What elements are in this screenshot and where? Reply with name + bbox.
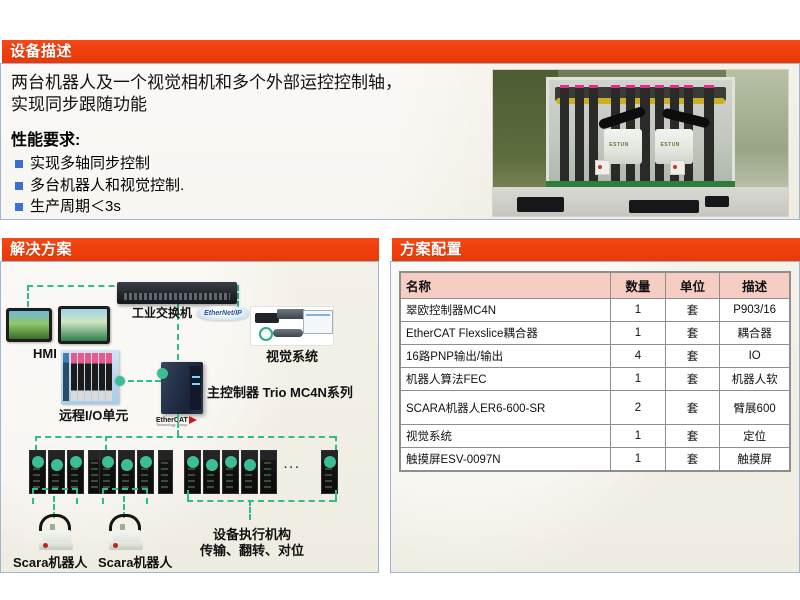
controller-front-panel xyxy=(190,366,201,410)
photo-red-dot xyxy=(673,165,677,169)
io-module xyxy=(71,353,77,401)
remote-io-unit xyxy=(61,350,119,404)
cell-unit: 套 xyxy=(665,391,720,425)
link-bus-drop-right xyxy=(335,436,337,450)
photo-robot-left: ESTUN xyxy=(604,129,642,165)
photo-fixture xyxy=(705,196,729,208)
link-actuator-left-riser xyxy=(187,490,189,502)
drive-vent xyxy=(91,462,98,491)
hmi-screen xyxy=(61,309,107,341)
drive-node xyxy=(244,459,256,471)
photo-gripper xyxy=(560,85,569,187)
cell-desc: IO xyxy=(720,345,790,368)
drive-top xyxy=(159,451,172,460)
bullet-square-icon xyxy=(15,160,23,168)
photo-fixture xyxy=(629,200,700,213)
link-to-vision xyxy=(237,285,239,307)
drive-node xyxy=(206,459,218,471)
cell-qty: 2 xyxy=(611,391,666,425)
cell-name: 机器人算法FEC xyxy=(400,368,611,391)
requirement-text: 生产周期＜3s xyxy=(30,196,121,218)
section-body-device-description: 两台机器人及一个视觉相机和多个外部运控控制轴，实现同步跟随功能 性能要求: 实现… xyxy=(0,63,800,220)
controller-led xyxy=(192,383,200,385)
scara-cable-arc xyxy=(39,514,71,531)
hmi-panel-right xyxy=(58,306,110,344)
section-header-configuration: 方案配置 xyxy=(390,238,800,261)
bullet-square-icon xyxy=(15,182,23,190)
section-header-device-description: 设备描述 xyxy=(0,40,800,63)
io-module xyxy=(78,353,84,401)
photo-robot-brand-label: ESTUN xyxy=(609,142,628,148)
hmi-panel-left xyxy=(6,308,52,342)
photo-gripper xyxy=(704,85,713,187)
section-title-configuration: 方案配置 xyxy=(392,242,462,257)
scara-indicator-dot xyxy=(113,543,118,548)
cell-name: 翠欧控制器MC4N xyxy=(400,299,611,322)
cell-name: SCARA机器人ER6-600-SR xyxy=(400,391,611,425)
column-header-qty: 数量 xyxy=(611,272,666,299)
photo-robot-arm xyxy=(598,106,646,130)
switch-ports xyxy=(124,293,230,301)
cell-desc: 定位 xyxy=(720,425,790,448)
photo-workpiece-base xyxy=(670,160,685,175)
label-scara-right: Scara机器人 xyxy=(98,552,172,571)
table-row: SCARA机器人ER6-600-SR 2 套 臂展600 xyxy=(400,391,790,425)
table-row: 触摸屏ESV-0097N 1 套 触摸屏 xyxy=(400,448,790,472)
main-controller xyxy=(161,362,203,414)
drive-node xyxy=(51,459,63,471)
photo-robot-brand-label: ESTUN xyxy=(660,142,679,148)
label-hmi: HMI xyxy=(33,346,57,361)
label-actuator-detail: 传输、翻转、对位 xyxy=(200,540,304,559)
bullet-square-icon xyxy=(15,203,23,211)
vision-camera-icon xyxy=(255,313,279,323)
cell-unit: 套 xyxy=(665,299,720,322)
photo-fixture xyxy=(517,197,564,212)
link-actuator-drop xyxy=(249,500,251,520)
drive-node xyxy=(121,459,133,471)
description-paragraph: 两台机器人及一个视觉相机和多个外部运控控制轴，实现同步跟随功能 xyxy=(11,72,411,117)
column-header-name: 名称 xyxy=(400,272,611,299)
cell-desc: 触摸屏 xyxy=(720,448,790,472)
cell-unit: 套 xyxy=(665,448,720,472)
section-body-solution: 工业交换机 EtherNet/IP HMI xyxy=(0,261,379,573)
scara-robot-right xyxy=(103,514,151,556)
photo-workpiece-base xyxy=(595,160,610,175)
drive-vent xyxy=(161,462,168,491)
cell-qty: 1 xyxy=(611,322,666,345)
photo-robot-right: ESTUN xyxy=(655,129,693,165)
cell-unit: 套 xyxy=(665,425,720,448)
io-module xyxy=(63,353,69,401)
label-industrial-switch: 工业交换机 xyxy=(132,304,192,321)
section-solution: 解决方案 工业交换机 EtherNet/IP xyxy=(0,238,379,573)
io-module xyxy=(85,353,91,401)
servo-drive xyxy=(203,450,220,494)
link-drives-to-scara-left xyxy=(32,488,78,504)
ethernet-ip-logo-icon: EtherNet/IP xyxy=(197,306,249,320)
table-row: 翠欧控制器MC4N 1 套 P903/16 xyxy=(400,299,790,322)
io-module xyxy=(92,353,98,401)
cell-qty: 1 xyxy=(611,425,666,448)
cell-name: 触摸屏ESV-0097N xyxy=(400,448,611,472)
cell-name: 视觉系统 xyxy=(400,425,611,448)
drive-node xyxy=(187,456,199,468)
vision-system-group xyxy=(250,306,334,346)
vision-lens-array-icon xyxy=(273,329,303,337)
link-actuator-right-riser xyxy=(335,490,337,502)
section-title-solution: 解决方案 xyxy=(2,242,72,257)
drive-node xyxy=(225,456,237,468)
workstation-photo: ESTUN ESTUN xyxy=(492,69,789,217)
cell-desc: 机器人软 xyxy=(720,368,790,391)
cell-qty: 1 xyxy=(611,368,666,391)
link-to-hmi xyxy=(27,285,29,307)
label-scara-left: Scara机器人 xyxy=(13,552,87,571)
label-main-controller: 主控制器 Trio MC4N系列 xyxy=(207,382,353,401)
cell-unit: 套 xyxy=(665,322,720,345)
link-controller-to-bus xyxy=(177,414,179,436)
drive-node xyxy=(140,456,152,468)
link-bus-drop-left xyxy=(35,436,37,450)
slide-root: 设备描述 两台机器人及一个视觉相机和多个外部运控控制轴，实现同步跟随功能 性能要… xyxy=(0,0,800,600)
requirement-text: 多台机器人和视觉控制. xyxy=(30,175,184,197)
link-io-to-controller xyxy=(119,380,161,382)
industrial-switch xyxy=(117,282,237,304)
photo-red-dot xyxy=(598,165,602,169)
scara-cable-arc xyxy=(109,514,141,531)
column-header-desc: 描述 xyxy=(720,272,790,299)
vision-light-ring-icon xyxy=(259,327,273,341)
drive-vent xyxy=(264,462,272,491)
configuration-table: 名称 数量 单位 描述 翠欧控制器MC4N 1 套 P903/16 EtherC… xyxy=(399,271,791,472)
link-actuator-bus xyxy=(187,500,335,502)
section-body-configuration: 名称 数量 单位 描述 翠欧控制器MC4N 1 套 P903/16 EtherC… xyxy=(390,261,800,573)
section-device-description: 设备描述 两台机器人及一个视觉相机和多个外部运控控制轴，实现同步跟随功能 性能要… xyxy=(0,40,800,220)
hmi-screen xyxy=(9,311,49,339)
cell-name: EtherCAT Flexslice耦合器 xyxy=(400,322,611,345)
label-drives-ellipsis: ··· xyxy=(284,462,301,474)
link-ethercat-bus xyxy=(35,436,335,438)
drive-top xyxy=(261,451,276,460)
cell-name: 16路PNP输出/输出 xyxy=(400,345,611,368)
vision-controller-icon xyxy=(277,309,305,319)
table-row: EtherCAT Flexslice耦合器 1 套 耦合器 xyxy=(400,322,790,345)
controller-led xyxy=(192,376,200,378)
cell-qty: 1 xyxy=(611,299,666,322)
cell-qty: 4 xyxy=(611,345,666,368)
drive-node xyxy=(70,456,82,468)
ethercat-arrow-icon xyxy=(189,416,197,424)
servo-drive xyxy=(260,450,277,494)
table-header-row: 名称 数量 单位 描述 xyxy=(400,272,790,299)
section-title-device-description: 设备描述 xyxy=(2,44,72,59)
cell-desc: P903/16 xyxy=(720,299,790,322)
cell-desc: 臂展600 xyxy=(720,391,790,425)
servo-drive xyxy=(158,450,173,494)
photo-enclosure: ESTUN ESTUN xyxy=(546,77,735,191)
table-row: 机器人算法FEC 1 套 机器人软 xyxy=(400,368,790,391)
scara-robot-left xyxy=(33,514,81,556)
drive-node xyxy=(32,456,44,468)
vision-monitor-bar xyxy=(306,314,330,317)
requirement-text: 实现多轴同步控制 xyxy=(30,153,150,175)
cell-unit: 套 xyxy=(665,345,720,368)
label-remote-io: 远程I/O单元 xyxy=(59,405,128,424)
photo-gripper xyxy=(575,85,584,187)
column-header-unit: 单位 xyxy=(665,272,720,299)
link-node-io xyxy=(115,376,125,386)
section-configuration: 方案配置 名称 数量 单位 描述 翠欧控制器MC4N xyxy=(390,238,800,573)
vision-monitor-icon xyxy=(303,310,333,334)
architecture-diagram: 工业交换机 EtherNet/IP HMI xyxy=(1,262,378,572)
link-bus-drop-mid xyxy=(105,436,107,450)
io-module xyxy=(99,353,105,401)
drive-node xyxy=(324,456,336,468)
table-row: 16路PNP输出/输出 4 套 IO xyxy=(400,345,790,368)
cell-desc: 耦合器 xyxy=(720,322,790,345)
scara-indicator-dot xyxy=(43,543,48,548)
link-drives-to-scara-right xyxy=(102,488,148,504)
table-row: 视觉系统 1 套 定位 xyxy=(400,425,790,448)
cell-unit: 套 xyxy=(665,368,720,391)
drive-node xyxy=(102,456,114,468)
cell-qty: 1 xyxy=(611,448,666,472)
io-module xyxy=(106,353,112,401)
label-vision-system: 视觉系统 xyxy=(266,346,318,365)
servo-drive xyxy=(241,450,258,494)
link-node-controller xyxy=(157,368,168,379)
section-header-solution: 解决方案 xyxy=(0,238,379,261)
